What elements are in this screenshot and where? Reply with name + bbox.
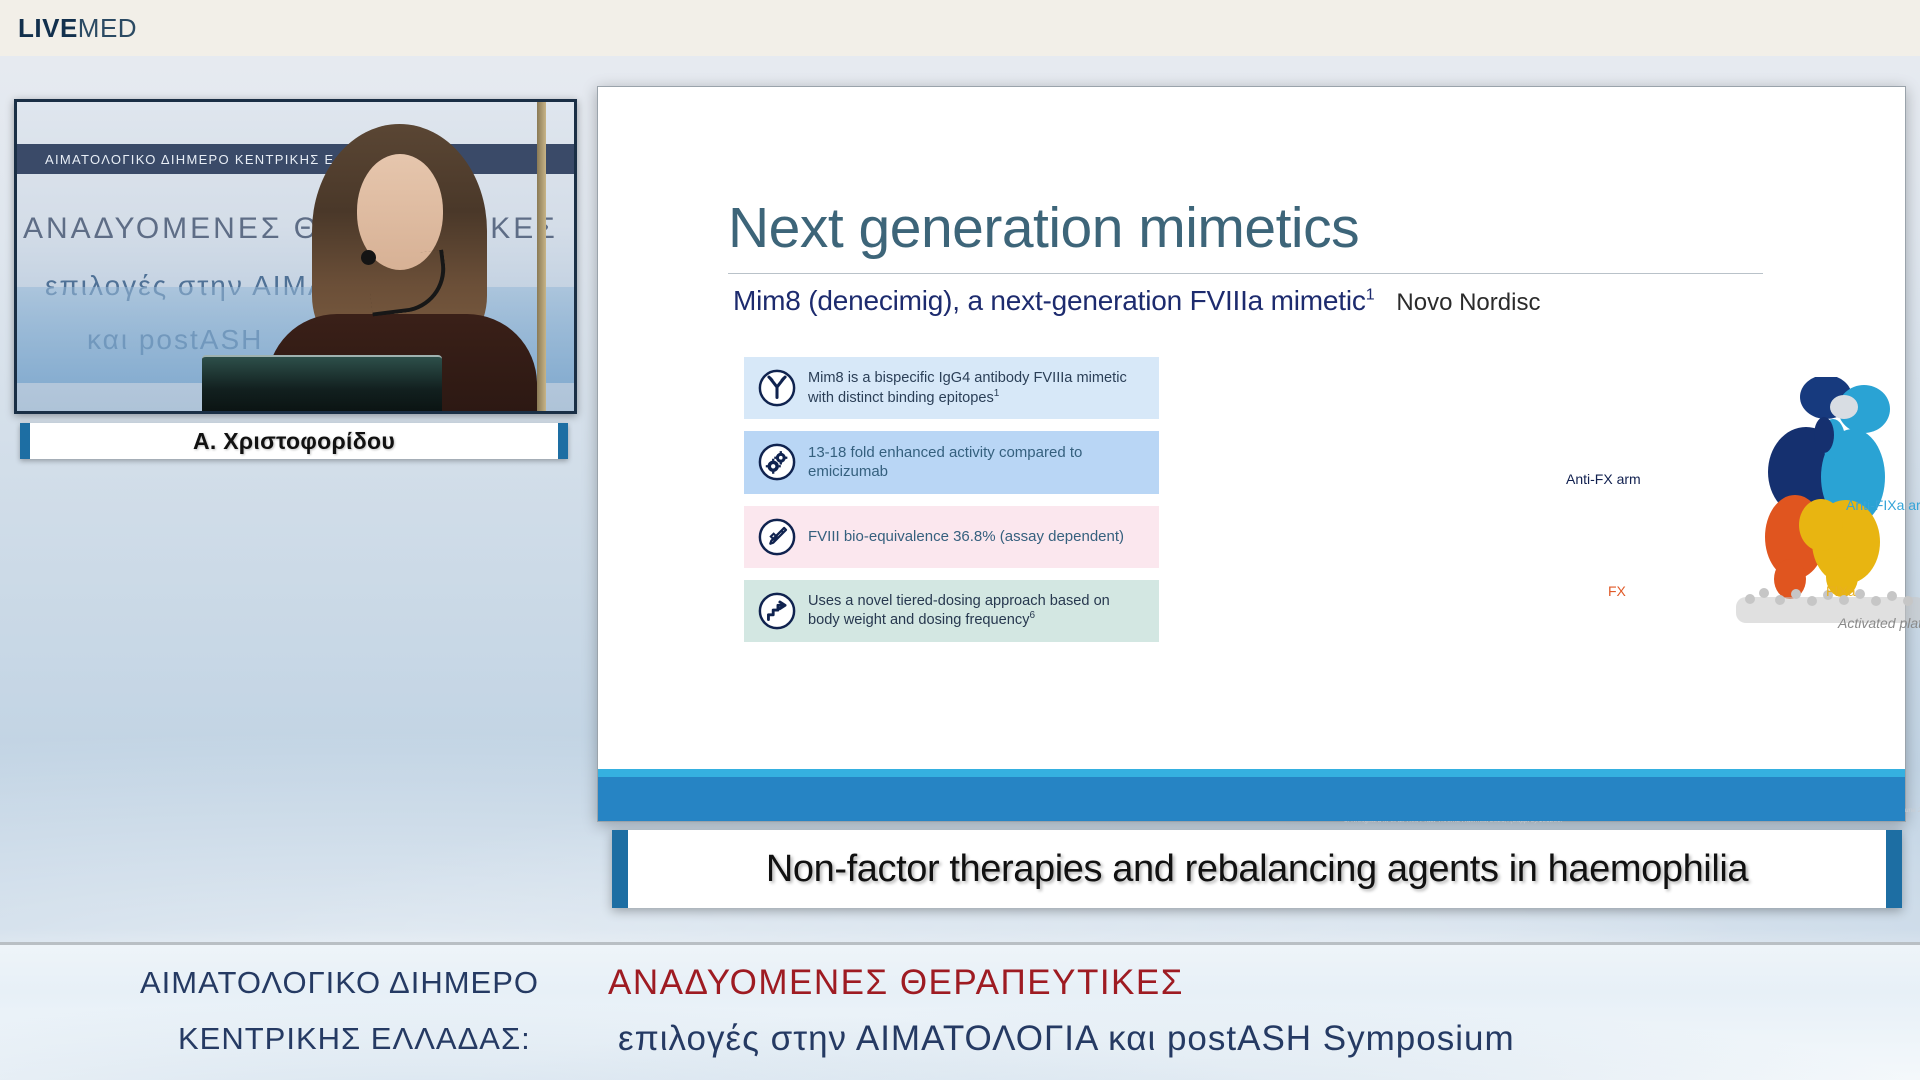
slide-title-divider xyxy=(728,273,1763,274)
bullet-box: FVIII bio-equivalence 36.8% (assay depen… xyxy=(744,506,1159,568)
slide-subtitle: Mim8 (denecimig), a next-generation FVII… xyxy=(733,285,1374,317)
bullet-box: Mim8 is a bispecific IgG4 antibody FVIII… xyxy=(744,357,1159,419)
bullet-text: FVIII bio-equivalence 36.8% (assay depen… xyxy=(808,527,1124,546)
slide-subtitle-superscript: 1 xyxy=(1366,287,1375,304)
bullet-text-superscript: 1 xyxy=(994,388,1000,399)
bullet-text-superscript: 6 xyxy=(1030,610,1036,621)
slide-subtitle-row: Mim8 (denecimig), a next-generation FVII… xyxy=(733,285,1540,317)
logo-live-text: LIVE xyxy=(18,13,78,43)
bullet-box: 13-18 fold enhanced activity compared to… xyxy=(744,431,1159,493)
footer-left-line-1: ΑΙΜΑΤΟΛΟΓΙΚΟ ΔΙΗΜΕΡΟ xyxy=(140,965,539,1001)
bullet-text: Uses a novel tiered-dosing approach base… xyxy=(808,592,1145,630)
footer-right-line-2: επιλογές στην ΑΙΜΑΤΟΛΟΓΙΑ και postASH Sy… xyxy=(618,1019,1515,1059)
slide-subtitle-text: Mim8 (denecimig), a next-generation FVII… xyxy=(733,285,1366,316)
podium-laptop xyxy=(202,355,442,411)
bullet-box: Uses a novel tiered-dosing approach base… xyxy=(744,580,1159,642)
slide-footer-bar xyxy=(598,769,1905,821)
microphone-head-icon xyxy=(361,250,376,265)
antibody-icon xyxy=(758,369,796,407)
session-title-bar: Non-factor therapies and rebalancing age… xyxy=(612,830,1902,908)
stairs-arrow-icon xyxy=(758,592,796,630)
figure-label-fixa: FIXa xyxy=(1826,583,1856,599)
speaker-video[interactable]: ΑΝΑΔΥΟΜΕΝΕΣ ΘΕΡΑΠΕΥΤΙΚΕΣ επιλογές στην Α… xyxy=(14,99,577,414)
gears-icon xyxy=(758,443,796,481)
slide-subtitle-company: Novo Nordisc xyxy=(1396,289,1540,317)
figure-label-anti-fixa: Anti-FIXa arm xyxy=(1846,497,1920,513)
presentation-slide[interactable]: Next generation mimetics Mim8 (denecimig… xyxy=(597,86,1906,822)
footer-left-line-2: ΚΕΝΤΡΙΚΗΣ ΕΛΛΑΔΑΣ: xyxy=(178,1021,531,1057)
slide-title: Next generation mimetics xyxy=(728,195,1359,261)
event-footer: ΑΙΜΑΤΟΛΟΓΙΚΟ ΔΙΗΜΕΡΟ ΚΕΝΤΡΙΚΗΣ ΕΛΛΑΔΑΣ: … xyxy=(0,942,1920,1080)
speaker-name-plate: Α. Χριστοφορίδου xyxy=(20,423,568,459)
figure-label-activated-platelet: Activated platelet xyxy=(1838,615,1920,631)
speaker-name-text: Α. Χριστοφορίδου xyxy=(193,428,395,455)
bullet-text-body: FVIII bio-equivalence 36.8% (assay depen… xyxy=(808,528,1124,545)
figure-label-anti-fx: Anti-FX arm xyxy=(1566,471,1641,487)
backdrop-band: ΑΙΜΑΤΟΛΟΓΙΚΟ ΔΙΗΜΕΡΟ ΚΕΝΤΡΙΚΗΣ ΕΛΛΑΔΑΣ: xyxy=(17,144,574,174)
session-title-text: Non-factor therapies and rebalancing age… xyxy=(766,848,1748,891)
bullet-text: 13-18 fold enhanced activity compared to… xyxy=(808,443,1145,481)
video-scene: ΑΝΑΔΥΟΜΕΝΕΣ ΘΕΡΑΠΕΥΤΙΚΕΣ επιλογές στην Α… xyxy=(17,102,574,411)
bullet-text-body: Mim8 is a bispecific IgG4 antibody FVIII… xyxy=(808,370,1127,406)
livemed-logo: LIVEMED xyxy=(18,15,137,41)
bullet-text-body: Uses a novel tiered-dosing approach base… xyxy=(808,593,1110,629)
bullet-box-list: Mim8 is a bispecific IgG4 antibody FVIII… xyxy=(744,357,1159,654)
pipette-icon xyxy=(758,518,796,556)
figure-label-fx: FX xyxy=(1608,583,1626,599)
logo-med-text: MED xyxy=(78,13,137,43)
bullet-text-body: 13-18 fold enhanced activity compared to… xyxy=(808,444,1082,480)
podium-edge xyxy=(537,102,546,411)
bullet-text: Mim8 is a bispecific IgG4 antibody FVIII… xyxy=(808,369,1145,407)
footer-right-line-1: ΑΝΑΔΥΟΜΕΝΕΣ ΘΕΡΑΠΕΥΤΙΚΕΣ xyxy=(608,963,1184,1003)
